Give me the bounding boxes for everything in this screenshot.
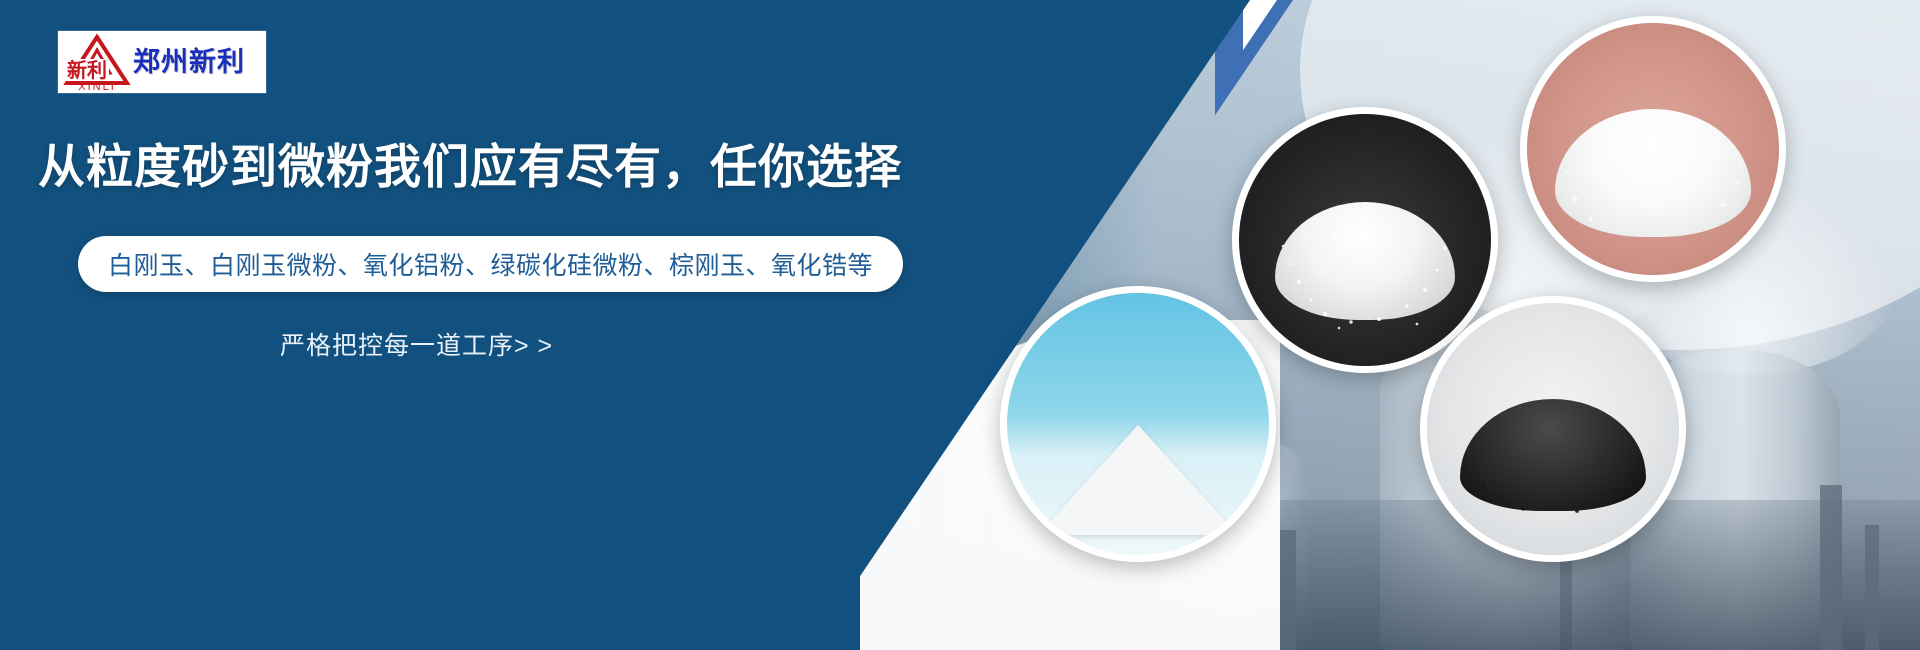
product-photo-powder-cone[interactable] xyxy=(1000,286,1276,562)
product-photo-white-powder[interactable] xyxy=(1520,16,1786,282)
company-logo[interactable]: 新利 XINLI 郑州新利 xyxy=(58,31,266,93)
product-photo-black-grit[interactable] xyxy=(1420,296,1686,562)
logo-mark-top-text: 新利 xyxy=(67,58,107,82)
xinli-triangle-icon: 新利 XINLI xyxy=(63,33,131,91)
promo-banner: 新利 XINLI 郑州新利 从粒度砂到微粉我们应有尽有，任你选择 白刚玉、白刚玉… xyxy=(0,0,1920,650)
headline: 从粒度砂到微粉我们应有尽有，任你选择 xyxy=(38,141,902,193)
product-list-text: 白刚玉、白刚玉微粉、氧化铝粉、绿碳化硅微粉、棕刚玉、氧化锆等 xyxy=(108,246,873,282)
logo-mark-bottom-text: XINLI xyxy=(78,81,116,91)
product-list-pill[interactable]: 白刚玉、白刚玉微粉、氧化铝粉、绿碳化硅微粉、棕刚玉、氧化锆等 xyxy=(78,236,903,292)
logo-company-name: 郑州新利 xyxy=(133,49,245,76)
cta-link[interactable]: 严格把控每一道工序> > xyxy=(280,326,553,362)
material-cone xyxy=(1038,425,1238,535)
